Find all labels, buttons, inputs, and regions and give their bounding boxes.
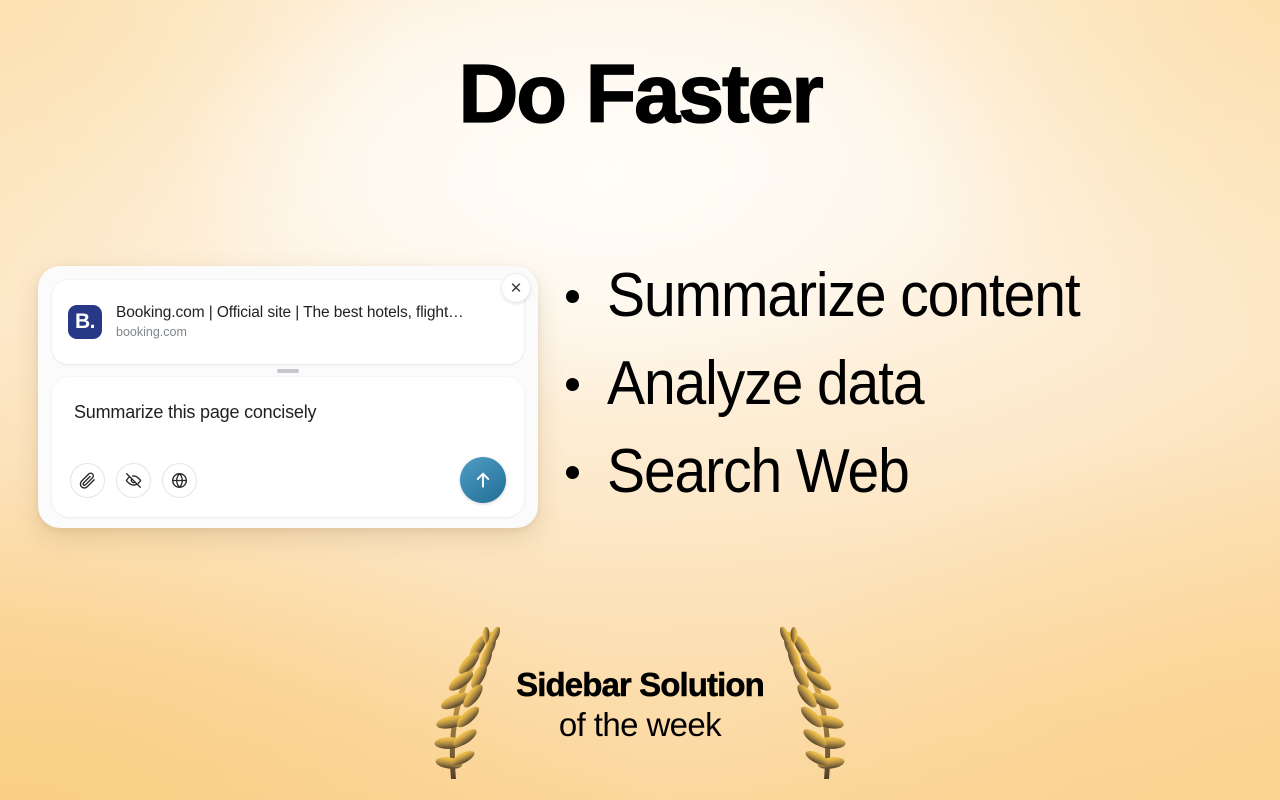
page-context-chip[interactable]: B. Booking.com | Official site | The bes… — [52, 280, 524, 364]
attach-icon[interactable] — [70, 463, 105, 498]
award-text: Sidebar Solution of the week — [516, 665, 764, 750]
drag-handle[interactable] — [277, 369, 299, 373]
close-icon[interactable]: ✕ — [502, 274, 530, 302]
page-context-text: Booking.com | Official site | The best h… — [116, 304, 508, 341]
page-title-text: Booking.com | Official site | The best h… — [116, 304, 508, 323]
booking-favicon-icon: B. — [68, 305, 102, 339]
globe-icon[interactable] — [162, 463, 197, 498]
feature-list: Summarize content Analyze data Search We… — [566, 262, 1266, 527]
composer-panel: Summarize this page concisely — [52, 377, 524, 517]
arrow-up-icon — [472, 469, 494, 491]
prompt-input[interactable]: Summarize this page concisely — [70, 395, 506, 424]
bullet-icon — [566, 290, 579, 303]
page-url-text: booking.com — [116, 325, 508, 340]
composer-toolbar — [70, 457, 506, 503]
list-item: Summarize content — [566, 262, 1266, 330]
sidebar-panel: B. Booking.com | Official site | The bes… — [38, 266, 538, 528]
list-item: Search Web — [566, 438, 1266, 506]
send-button[interactable] — [460, 457, 506, 503]
bullet-icon — [566, 378, 579, 391]
list-item: Analyze data — [566, 350, 1266, 418]
eye-off-icon[interactable] — [116, 463, 151, 498]
page-title: Do Faster — [0, 52, 1280, 135]
list-item-label: Analyze data — [607, 350, 924, 418]
award-badge: Sidebar Solution of the week — [0, 622, 1280, 792]
award-subtitle: of the week — [516, 705, 764, 745]
bullet-icon — [566, 466, 579, 479]
composer-tool-group — [70, 463, 197, 498]
award-title: Sidebar Solution — [516, 665, 764, 705]
list-item-label: Summarize content — [607, 262, 1080, 330]
list-item-label: Search Web — [607, 438, 909, 506]
laurel-wreath-left-icon — [432, 627, 502, 787]
laurel-wreath-right-icon — [778, 627, 848, 787]
